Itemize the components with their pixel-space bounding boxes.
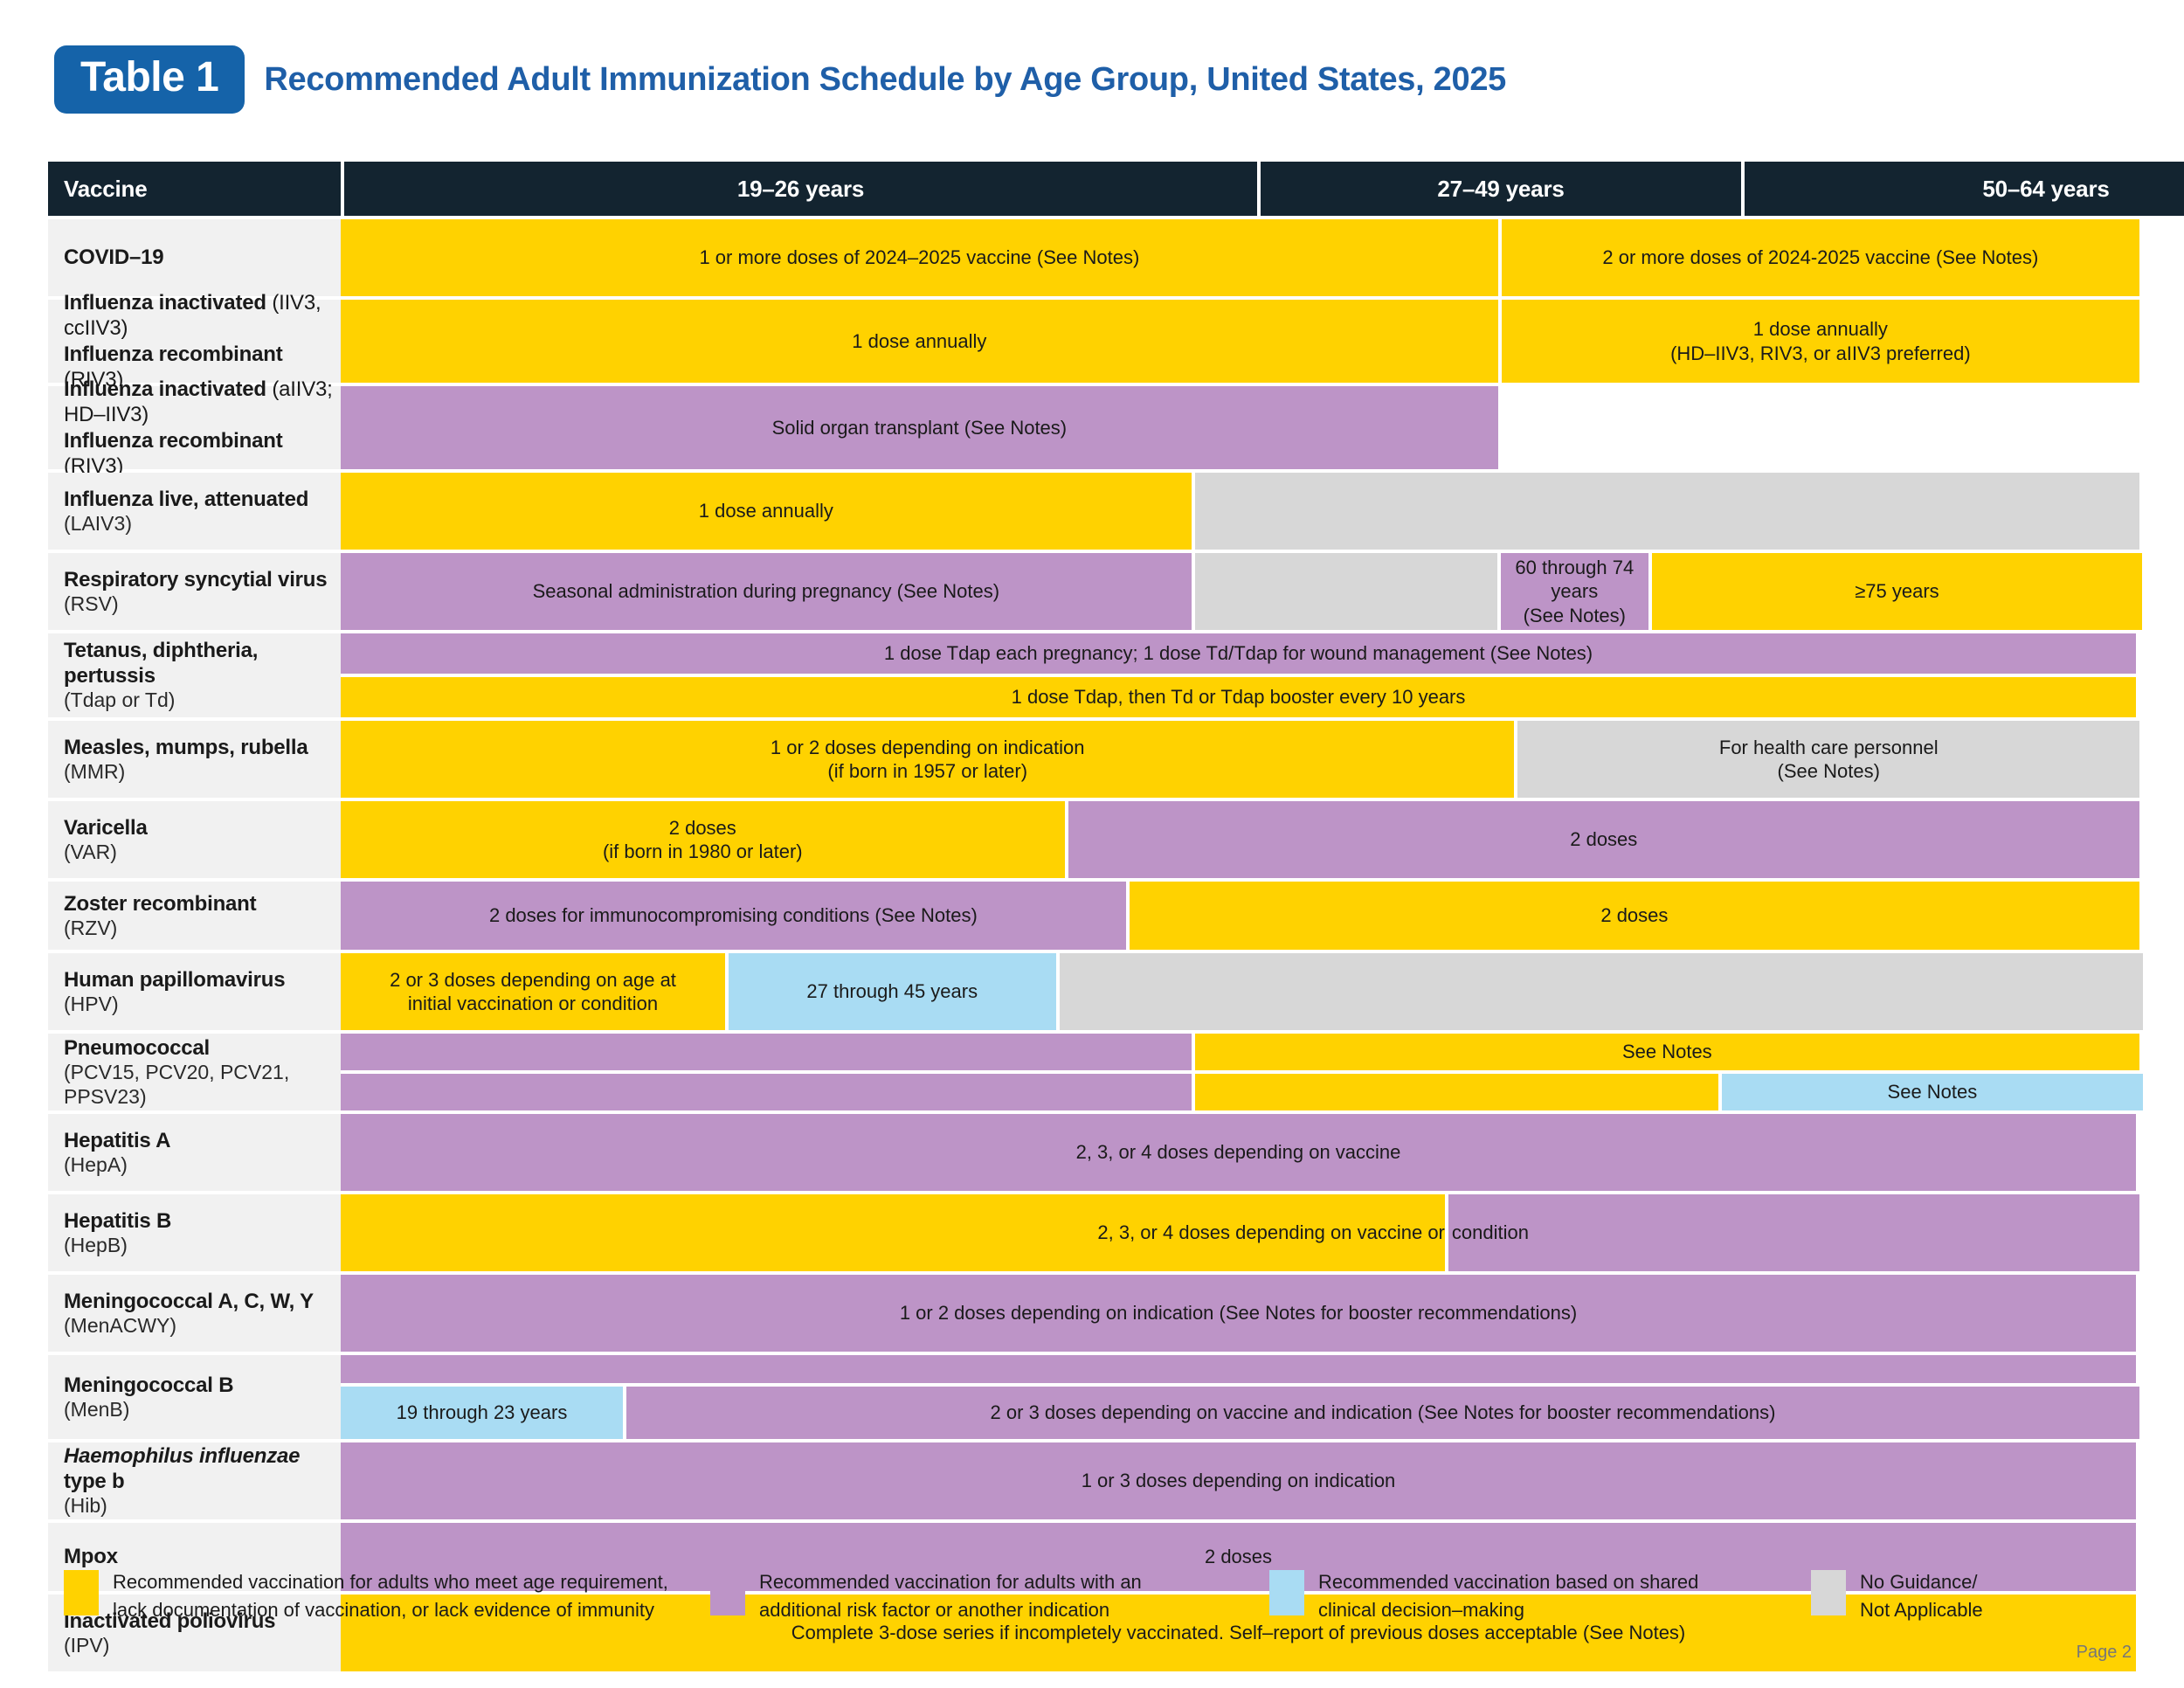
schedule-band: 2 or 3 doses depending on age at initial…: [341, 953, 2136, 1030]
immunization-schedule-page: Table 1 Recommended Adult Immunization S…: [0, 0, 2184, 1688]
table-body: COVID–191 or more doses of 2024–2025 vac…: [48, 219, 2136, 1671]
schedule-cell-text: 1 or 3 doses depending on indication: [1082, 1469, 1396, 1493]
vaccine-abbrev: (MenACWY): [64, 1314, 341, 1339]
schedule-band: 1 or more doses of 2024–2025 vaccine (Se…: [341, 219, 2136, 296]
schedule-cell-text: 1 dose annually (HD–IIV3, RIV3, or aIIV3…: [1670, 317, 1971, 365]
schedule-cell-text: 1 dose Tdap each pregnancy; 1 dose Td/Td…: [884, 641, 1593, 666]
schedule-cell-text: 60 through 74 years (See Notes): [1506, 556, 1643, 628]
legend-label: No Guidance/ Not Applicable: [1860, 1568, 1983, 1624]
schedule-band-row: 1 or more doses of 2024–2025 vaccine (Se…: [341, 219, 2136, 296]
vaccine-abbrev: (IPV): [64, 1634, 341, 1658]
vaccine-name: Pneumococcal: [64, 1035, 341, 1061]
vaccine-name: Hepatitis B: [64, 1208, 341, 1234]
schedule-cell-purple[interactable]: condition: [1448, 1194, 2139, 1271]
vaccine-name: Measles, mumps, rubella: [64, 735, 341, 760]
table-row: Meningococcal A, C, W, Y(MenACWY)1 or 2 …: [48, 1275, 2136, 1352]
vaccine-abbrev: (IIV3, ccIIV3): [64, 291, 321, 340]
schedule-band-row: See Notes: [341, 1034, 2136, 1070]
vaccine-name: Varicella: [64, 815, 341, 841]
schedule-band-row: 1 dose Tdap, then Td or Tdap booster eve…: [341, 677, 2136, 717]
table-header-row: Vaccine19–26 years27–49 years50–64 years…: [48, 162, 2136, 216]
vaccine-abbrev: (HPV): [64, 993, 341, 1017]
legend-item-blue: Recommended vaccination based on shared …: [1269, 1568, 1811, 1624]
schedule-cell-purple[interactable]: 1 dose Tdap each pregnancy; 1 dose Td/Td…: [341, 633, 2136, 674]
schedule-cell-gray[interactable]: [1195, 553, 1497, 630]
schedule-cell-purple[interactable]: 2 doses for immunocompromising condition…: [341, 882, 1126, 950]
schedule-band: 2, 3, or 4 doses depending on vaccine: [341, 1114, 2136, 1191]
vaccine-name: Mpox: [64, 1544, 341, 1569]
vaccine-name-cell: Influenza inactivated (IIV3, ccIIV3)Infl…: [48, 300, 341, 383]
schedule-band: 19 through 23 years2 or 3 doses dependin…: [341, 1355, 2136, 1439]
vaccine-name: Influenza inactivated (aIIV3; HD–IIV3): [64, 377, 341, 428]
schedule-cell-gray[interactable]: [1195, 473, 2139, 550]
table-row: Influenza inactivated (aIIV3; HD–IIV3)In…: [48, 386, 2136, 469]
legend-swatch-blue: [1269, 1570, 1304, 1615]
schedule-cell-yellow[interactable]: 1 or 2 doses depending on indication (if…: [341, 721, 1514, 798]
legend-item-purple: Recommended vaccination for adults with …: [710, 1568, 1269, 1624]
schedule-cell-text: 2 doses (if born in 1980 or later): [603, 816, 803, 864]
legend-label: Recommended vaccination for adults with …: [759, 1568, 1142, 1624]
schedule-cell-text: 1 dose annually: [699, 499, 833, 523]
schedule-cell-yellow[interactable]: 2 or 3 doses depending on age at initial…: [341, 953, 725, 1030]
page-number: Page 2: [2077, 1643, 2132, 1663]
schedule-cell-text: 2 or more doses of 2024-2025 vaccine (Se…: [1602, 246, 2038, 270]
vaccine-abbrev: (Tdap or Td): [64, 688, 341, 713]
schedule-cell-text: 1 dose annually: [852, 329, 986, 354]
table-row: Influenza inactivated (IIV3, ccIIV3)Infl…: [48, 300, 2136, 383]
vaccine-name: COVID–19: [64, 245, 341, 270]
schedule-cell-purple[interactable]: 1 or 2 doses depending on indication (Se…: [341, 1275, 2136, 1352]
schedule-band-row: [341, 1355, 2136, 1383]
vaccine-name-cell: Varicella(VAR): [48, 801, 341, 878]
schedule-cell-yellow[interactable]: 1 dose annually: [341, 300, 1498, 383]
schedule-band: See NotesSee Notes: [341, 1034, 2136, 1110]
vaccine-name-cell: Human papillomavirus(HPV): [48, 953, 341, 1030]
schedule-cell-yellow[interactable]: 2 or more doses of 2024-2025 vaccine (Se…: [1502, 219, 2139, 296]
vaccine-name-cell: Hepatitis B(HepB): [48, 1194, 341, 1271]
schedule-cell-purple[interactable]: [341, 1034, 1192, 1070]
schedule-cell-text: Seasonal administration during pregnancy…: [533, 579, 999, 604]
schedule-band: Solid organ transplant (See Notes): [341, 386, 2136, 469]
vaccine-name-cell: Measles, mumps, rubella(MMR): [48, 721, 341, 798]
vaccine-abbrev: (RSV): [64, 592, 341, 617]
vaccine-name: Respiratory syncytial virus: [64, 567, 341, 592]
schedule-band: 2 doses for immunocompromising condition…: [341, 882, 2136, 950]
legend-label: Recommended vaccination for adults who m…: [113, 1568, 668, 1624]
schedule-cell-yellow[interactable]: 1 dose annually (HD–IIV3, RIV3, or aIIV3…: [1502, 300, 2139, 383]
vaccine-name: Meningococcal A, C, W, Y: [64, 1289, 341, 1314]
schedule-band-row: 2, 3, or 4 doses depending on vaccine: [341, 1114, 2136, 1191]
schedule-cell-purple[interactable]: Seasonal administration during pregnancy…: [341, 553, 1192, 630]
schedule-cell-text: 2, 3, or 4 doses depending on vaccine: [1076, 1140, 1401, 1165]
vaccine-abbrev: (RZV): [64, 917, 341, 941]
schedule-cell-text: For health care personnel (See Notes): [1719, 736, 1939, 784]
schedule-band: 2 doses (if born in 1980 or later)2 dose…: [341, 801, 2136, 878]
page-title: Recommended Adult Immunization Schedule …: [264, 61, 1506, 99]
schedule-cell-text: 27 through 45 years: [806, 979, 978, 1004]
vaccine-name-cell: Haemophilus influenzae type b(Hib): [48, 1442, 341, 1519]
column-header-age-2: 27–49 years: [1261, 162, 1741, 216]
schedule-band-row: 2, 3, or 4 doses depending on vaccine or…: [341, 1194, 2136, 1271]
schedule-cell-blue[interactable]: 19 through 23 years: [341, 1387, 623, 1439]
table-row: Hepatitis B(HepB)2, 3, or 4 doses depend…: [48, 1194, 2136, 1271]
vaccine-name: Zoster recombinant: [64, 891, 341, 917]
schedule-band-row: 2 doses for immunocompromising condition…: [341, 882, 2136, 950]
schedule-cell-text: Solid organ transplant (See Notes): [772, 416, 1068, 440]
vaccine-abbrev: (HepA): [64, 1153, 341, 1178]
schedule-cell-yellow[interactable]: ≥75 years: [1652, 553, 2143, 630]
vaccine-name-cell: Respiratory syncytial virus(RSV): [48, 553, 341, 630]
vaccine-name: Tetanus, diphtheria, pertussis: [64, 638, 341, 689]
legend-label: Recommended vaccination based on shared …: [1318, 1568, 1698, 1624]
legend-item-yellow: Recommended vaccination for adults who m…: [64, 1568, 710, 1624]
schedule-band-row: 19 through 23 years2 or 3 doses dependin…: [341, 1387, 2136, 1439]
table-row: Hepatitis A(HepA)2, 3, or 4 doses depend…: [48, 1114, 2136, 1191]
table-row: Respiratory syncytial virus(RSV)Seasonal…: [48, 553, 2136, 630]
schedule-band-row: 1 or 3 doses depending on indication: [341, 1442, 2136, 1519]
schedule-cell-purple[interactable]: [341, 1355, 2136, 1383]
schedule-cell-blue[interactable]: 27 through 45 years: [729, 953, 1055, 1030]
schedule-cell-text: 1 or 2 doses depending on indication (Se…: [900, 1301, 1577, 1325]
schedule-cell-text: See Notes: [1622, 1040, 1712, 1064]
vaccine-name: Influenza live, attenuated: [64, 487, 341, 512]
vaccine-name-cell: Tetanus, diphtheria, pertussis(Tdap or T…: [48, 633, 341, 717]
schedule-cell-yellow[interactable]: 1 dose Tdap, then Td or Tdap booster eve…: [341, 677, 2136, 717]
schedule-band-row: Solid organ transplant (See Notes): [341, 386, 2136, 469]
schedule-cell-yellow[interactable]: 1 or more doses of 2024–2025 vaccine (Se…: [341, 219, 1498, 296]
schedule-cell-purple[interactable]: 1 or 3 doses depending on indication: [341, 1442, 2136, 1519]
schedule-band-row: 1 dose annually1 dose annually (HD–IIV3,…: [341, 300, 2136, 383]
schedule-band: 1 or 2 doses depending on indication (if…: [341, 721, 2136, 798]
schedule-cell-purple[interactable]: [341, 1074, 1192, 1110]
vaccine-name: Hepatitis A: [64, 1128, 341, 1153]
schedule-band-row: 2 or 3 doses depending on age at initial…: [341, 953, 2136, 1030]
schedule-band-row: See Notes: [341, 1074, 2136, 1110]
schedule-band-row: Seasonal administration during pregnancy…: [341, 553, 2136, 630]
table-row: Influenza live, attenuated(LAIV3)1 dose …: [48, 473, 2136, 550]
schedule-band: Seasonal administration during pregnancy…: [341, 553, 2136, 630]
table-row: Pneumococcal(PCV15, PCV20, PCV21, PPSV23…: [48, 1034, 2136, 1110]
schedule-cell-text: 2 or 3 doses depending on vaccine and in…: [991, 1401, 1776, 1425]
vaccine-name-cell: Influenza live, attenuated(LAIV3): [48, 473, 341, 550]
vaccine-abbrev: (MenB): [64, 1398, 341, 1422]
legend-swatch-gray: [1811, 1570, 1846, 1615]
vaccine-name: Meningococcal B: [64, 1373, 341, 1398]
vaccine-name-cell: COVID–19: [48, 219, 341, 296]
schedule-cell-gray[interactable]: For health care personnel (See Notes): [1517, 721, 2139, 798]
schedule-band-row: 1 or 2 doses depending on indication (Se…: [341, 1275, 2136, 1352]
schedule-band: 1 or 2 doses depending on indication (Se…: [341, 1275, 2136, 1352]
vaccine-name-cell: Meningococcal B(MenB): [48, 1355, 341, 1439]
schedule-cell-text: 2 or 3 doses depending on age at initial…: [390, 968, 676, 1016]
vaccine-abbrev: (PCV15, PCV20, PCV21, PPSV23): [64, 1061, 341, 1109]
schedule-cell-yellow[interactable]: 2 doses (if born in 1980 or later): [341, 801, 1065, 878]
schedule-cell-text: 2 doses for immunocompromising condition…: [489, 903, 978, 928]
schedule-cell-text: 2 doses: [1600, 903, 1668, 928]
schedule-band-row: 1 dose Tdap each pregnancy; 1 dose Td/Td…: [341, 633, 2136, 674]
schedule-cell-text: See Notes: [1888, 1080, 1978, 1104]
schedule-cell-text: ≥75 years: [1855, 579, 1939, 604]
schedule-cell-purple[interactable]: 2, 3, or 4 doses depending on vaccine: [341, 1114, 2136, 1191]
table-badge: Table 1: [54, 45, 245, 114]
table-row: Haemophilus influenzae type b(Hib)1 or 3…: [48, 1442, 2136, 1519]
vaccine-abbrev: (LAIV3): [64, 512, 341, 536]
legend: Recommended vaccination for adults who m…: [48, 1568, 2136, 1624]
table-row: Human papillomavirus(HPV)2 or 3 doses de…: [48, 953, 2136, 1030]
vaccine-name: Human papillomavirus: [64, 967, 341, 993]
schedule-band: 1 dose annually: [341, 473, 2136, 550]
vaccine-abbrev: (aIIV3; HD–IIV3): [64, 377, 333, 426]
schedule-band-row: 1 or 2 doses depending on indication (if…: [341, 721, 2136, 798]
table-row: Varicella(VAR)2 doses (if born in 1980 o…: [48, 801, 2136, 878]
vaccine-abbrev: (VAR): [64, 841, 341, 865]
schedule-band: 2, 3, or 4 doses depending on vaccine or…: [341, 1194, 2136, 1271]
table-row: Meningococcal B(MenB)19 through 23 years…: [48, 1355, 2136, 1439]
schedule-cell-yellow[interactable]: 2, 3, or 4 doses depending on vaccine or: [341, 1194, 1445, 1271]
table-row: Zoster recombinant(RZV)2 doses for immun…: [48, 882, 2136, 950]
vaccine-name-cell: Zoster recombinant(RZV): [48, 882, 341, 950]
schedule-cell-text: 2, 3, or 4 doses depending on vaccine or: [1097, 1221, 1445, 1245]
schedule-band: 1 dose annually1 dose annually (HD–IIV3,…: [341, 300, 2136, 383]
column-header-age-3: 50–64 years: [1745, 162, 2184, 216]
schedule-cell-purple[interactable]: 2 doses: [1068, 801, 2139, 878]
schedule-cell-text: 19 through 23 years: [397, 1401, 568, 1425]
schedule-cell-yellow[interactable]: 1 dose annually: [341, 473, 1192, 550]
schedule-cell-text: 2 doses: [1570, 827, 1637, 852]
vaccine-name-cell: Pneumococcal(PCV15, PCV20, PCV21, PPSV23…: [48, 1034, 341, 1110]
schedule-cell-purple[interactable]: 2 or 3 doses depending on vaccine and in…: [626, 1387, 2139, 1439]
vaccine-name-cell: Hepatitis A(HepA): [48, 1114, 341, 1191]
page-title-bar: Table 1 Recommended Adult Immunization S…: [54, 45, 1506, 114]
schedule-band-row: 1 dose annually: [341, 473, 2136, 550]
schedule-cell-gray[interactable]: [1060, 953, 2143, 1030]
table-row: Tetanus, diphtheria, pertussis(Tdap or T…: [48, 633, 2136, 717]
vaccine-name-secondary: Influenza recombinant (RIV3): [64, 428, 341, 480]
schedule-band: 1 or 3 doses depending on indication: [341, 1442, 2136, 1519]
legend-swatch-purple: [710, 1570, 745, 1615]
legend-item-gray: No Guidance/ Not Applicable: [1811, 1568, 2152, 1624]
schedule-band: 1 dose Tdap each pregnancy; 1 dose Td/Td…: [341, 633, 2136, 717]
legend-swatch-yellow: [64, 1570, 99, 1615]
vaccine-name-cell: Influenza inactivated (aIIV3; HD–IIV3)In…: [48, 386, 341, 469]
vaccine-name-cell: Meningococcal A, C, W, Y(MenACWY): [48, 1275, 341, 1352]
column-header-age-1: 19–26 years: [344, 162, 1257, 216]
schedule-cell-purple[interactable]: 60 through 74 years (See Notes): [1501, 553, 1648, 630]
table-row: COVID–191 or more doses of 2024–2025 vac…: [48, 219, 2136, 296]
column-header-vaccine: Vaccine: [48, 162, 341, 216]
vaccine-name: Influenza inactivated (IIV3, ccIIV3): [64, 290, 341, 342]
vaccine-abbrev: (Hib): [64, 1494, 341, 1519]
schedule-table: Vaccine19–26 years27–49 years50–64 years…: [48, 162, 2136, 1675]
schedule-cell-text: 1 or more doses of 2024–2025 vaccine (Se…: [699, 246, 1139, 270]
schedule-cell-text: 1 dose Tdap, then Td or Tdap booster eve…: [1012, 685, 1466, 709]
schedule-cell-text: Complete 3-dose series if incompletely v…: [791, 1621, 1686, 1645]
table-row: Measles, mumps, rubella(MMR)1 or 2 doses…: [48, 721, 2136, 798]
vaccine-abbrev: (MMR): [64, 760, 341, 785]
vaccine-abbrev: (HepB): [64, 1234, 341, 1258]
schedule-cell-yellow[interactable]: 2 doses: [1130, 882, 2139, 950]
schedule-cell-blue[interactable]: See Notes: [1722, 1074, 2143, 1110]
vaccine-name: Haemophilus influenzae type b: [64, 1443, 341, 1495]
schedule-cell-yellow[interactable]: [1195, 1074, 1718, 1110]
schedule-cell-purple[interactable]: Solid organ transplant (See Notes): [341, 386, 1498, 469]
schedule-cell-text: condition: [1452, 1221, 1529, 1245]
schedule-band-row: 2 doses (if born in 1980 or later)2 dose…: [341, 801, 2136, 878]
schedule-cell-text: 1 or 2 doses depending on indication (if…: [771, 736, 1085, 784]
schedule-cell-text: 2 doses: [1205, 1545, 1272, 1569]
schedule-cell-yellow[interactable]: See Notes: [1195, 1034, 2139, 1070]
